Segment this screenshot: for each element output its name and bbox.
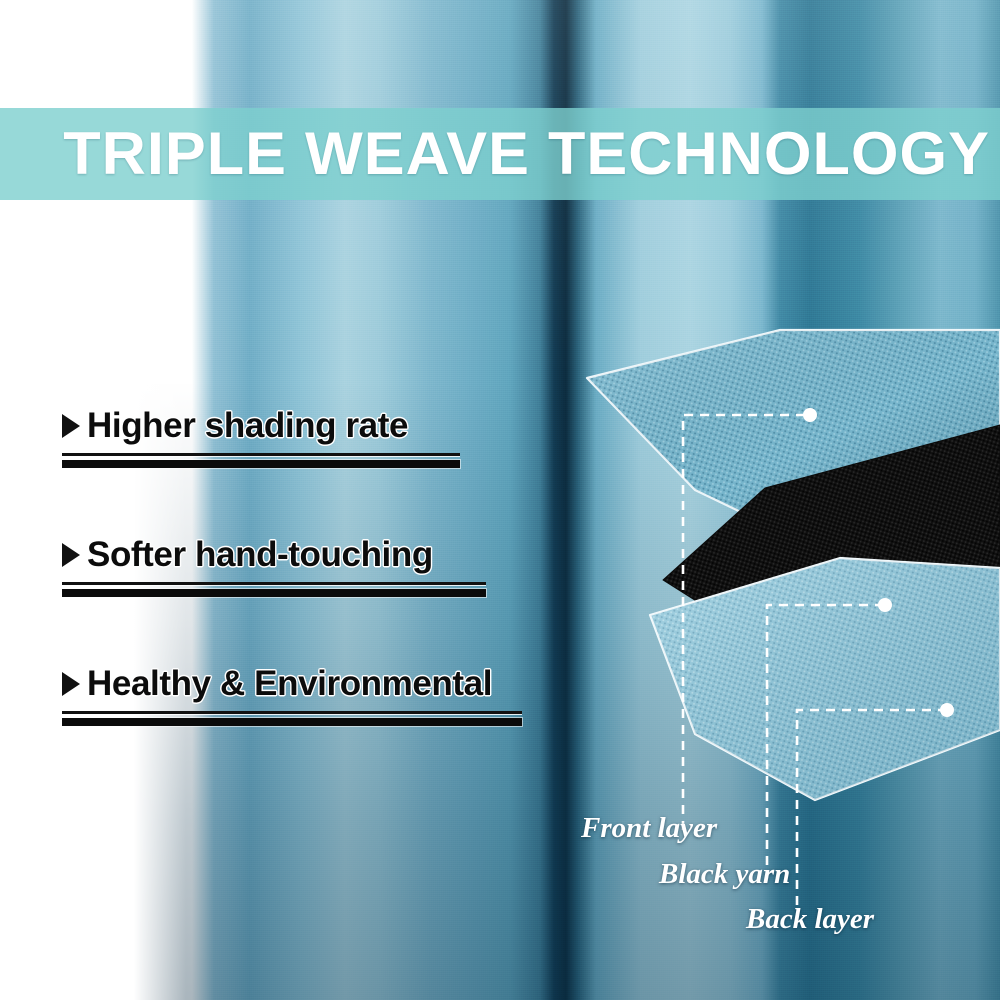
triangle-right-icon xyxy=(62,672,80,696)
page-title: TRIPLE WEAVE TECHNOLOGY xyxy=(0,108,1000,200)
label-front-layer: Front layer xyxy=(581,812,717,845)
feature-label: Higher shading rate xyxy=(87,408,408,443)
feature-item-higher-shading-rate: Higher shading rate xyxy=(62,408,542,467)
feature-underline xyxy=(62,453,460,467)
underline-thin xyxy=(62,711,522,714)
feature-underline xyxy=(62,711,522,725)
feature-item-healthy-environmental: Healthy & Environmental xyxy=(62,666,542,725)
underline-thin xyxy=(62,453,460,456)
feature-list: Higher shading rate Softer hand-touching… xyxy=(62,408,542,725)
leader-dot-black-yarn xyxy=(878,598,892,612)
feature-label: Softer hand-touching xyxy=(87,537,433,572)
underline-thick xyxy=(62,460,460,468)
underline-thick xyxy=(62,589,486,597)
feature-label: Healthy & Environmental xyxy=(87,666,492,701)
triangle-right-icon xyxy=(62,543,80,567)
feature-item-softer-hand-touching: Softer hand-touching xyxy=(62,537,542,596)
triple-weave-layer-diagram xyxy=(575,330,1000,850)
label-back-layer: Back layer xyxy=(746,903,874,936)
product-feature-image: TRIPLE WEAVE TECHNOLOGY Higher shading r… xyxy=(0,0,1000,1000)
underline-thin xyxy=(62,582,486,585)
underline-thick xyxy=(62,718,522,726)
leader-dot-back-layer xyxy=(940,703,954,717)
leader-dot-front-layer xyxy=(803,408,817,422)
feature-underline xyxy=(62,582,486,596)
triangle-right-icon xyxy=(62,414,80,438)
label-black-yarn: Black yarn xyxy=(659,858,790,891)
